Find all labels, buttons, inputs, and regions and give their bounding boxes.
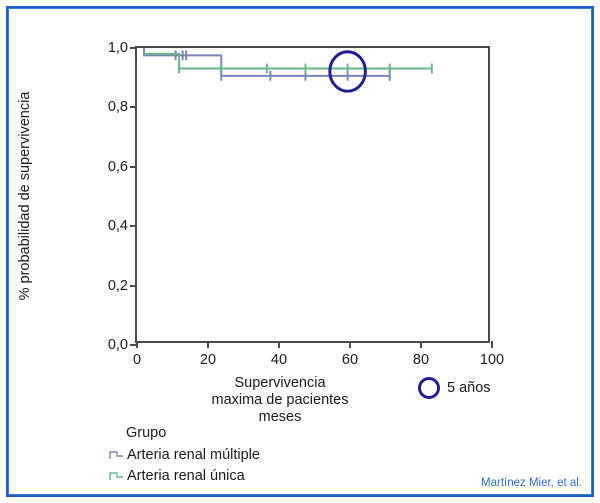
legend-label: Arteria renal múltiple <box>127 447 260 463</box>
x-axis-title-line-2: maxima de pacientes <box>155 392 405 409</box>
x-tick-mark <box>136 341 138 348</box>
x-axis-title: Supervivencia maxima de pacientes meses <box>155 375 405 426</box>
legend: Grupo Arteria renal múltipleArteria rena… <box>108 425 260 486</box>
y-axis-title: % probabilidad de supervivencia <box>17 46 33 346</box>
x-tick-mark <box>420 341 422 348</box>
legend-items: Arteria renal múltipleArteria renal únic… <box>108 444 260 486</box>
legend-item-2: Arteria renal única <box>108 465 260 486</box>
x-tick-label: 20 <box>200 352 216 368</box>
y-tick-label: 0,6 <box>108 159 128 175</box>
x-tick-mark <box>491 341 493 348</box>
x-axis-title-line-1: Supervivencia <box>155 375 405 392</box>
circle-marker-icon <box>418 377 440 399</box>
legend-step-icon <box>108 470 124 482</box>
plot-area: 0,00,20,40,60,81,0% probabilidad de supe… <box>135 46 490 343</box>
x-tick-mark <box>207 341 209 348</box>
series-arteria-renal-única <box>144 54 432 74</box>
y-tick-mark <box>130 106 137 108</box>
legend-step-icon <box>108 449 124 461</box>
x-tick-label: 80 <box>413 352 429 368</box>
x-tick-label: 40 <box>271 352 287 368</box>
figure-container: 0,00,20,40,60,81,0% probabilidad de supe… <box>0 0 600 503</box>
x-tick-label: 60 <box>342 352 358 368</box>
x-tick-label: 100 <box>480 352 504 368</box>
legend-label: Arteria renal única <box>127 468 245 484</box>
x-tick-mark <box>349 341 351 348</box>
legend-title: Grupo <box>126 425 260 441</box>
y-tick-mark <box>130 225 137 227</box>
y-tick-mark <box>130 285 137 287</box>
figure-credit: Martínez Mier, et al. <box>481 477 582 489</box>
y-tick-mark <box>130 47 137 49</box>
survival-curves <box>137 48 488 341</box>
y-tick-label: 1,0 <box>108 40 128 56</box>
x-tick-mark <box>278 341 280 348</box>
legend-item-1: Arteria renal múltiple <box>108 444 260 465</box>
annotation-label: 5 años <box>447 380 491 396</box>
x-tick-label: 0 <box>133 352 141 368</box>
y-tick-label: 0,0 <box>108 337 128 353</box>
annotation-5-years: 5 años <box>418 377 491 399</box>
y-tick-label: 0,8 <box>108 99 128 115</box>
y-tick-mark <box>130 166 137 168</box>
x-axis-title-line-3: meses <box>155 409 405 426</box>
y-tick-label: 0,2 <box>108 278 128 294</box>
y-tick-label: 0,4 <box>108 218 128 234</box>
